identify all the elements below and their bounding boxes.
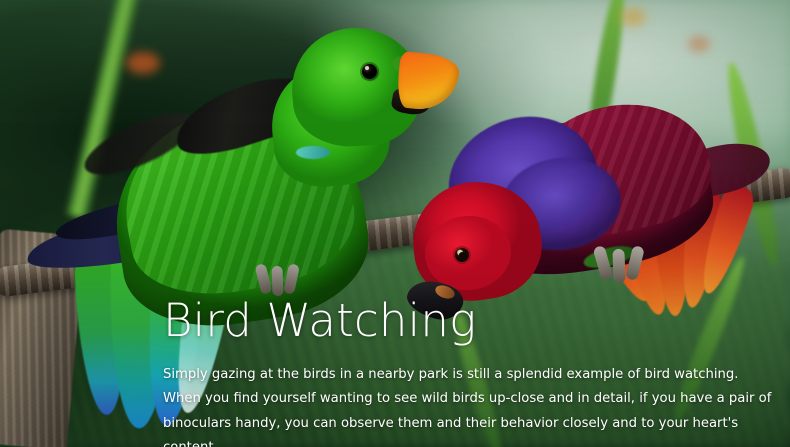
caption-body-text: Simply gazing at the birds in a nearby p… <box>163 363 779 447</box>
caption-block: Bird Watching Simply gazing at the birds… <box>163 296 779 447</box>
bird-watching-hero: Bird Watching Simply gazing at the birds… <box>0 0 790 447</box>
page-title: Bird Watching <box>163 296 779 346</box>
